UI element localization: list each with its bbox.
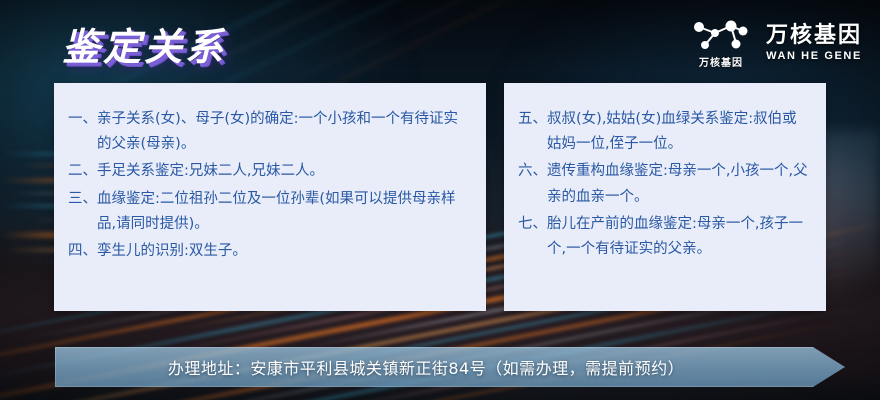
panel-right: 五、 叔叔(女),姑姑(女)血绿关系鉴定:叔伯或姑妈一位,侄子一位。 六、 遗传… (504, 83, 826, 311)
panel-left: 一、 亲子关系(女)、母子(女)的确定:一个小孩和一个有待证实的父亲(母亲)。 … (54, 83, 486, 311)
list-item-text: 血缘鉴定:二位祖孙二位及一位孙辈(如果可以提供母亲样品,请同时提供)。 (97, 187, 470, 237)
list-item-number: 二、 (66, 159, 97, 184)
list-item: 一、 亲子关系(女)、母子(女)的确定:一个小孩和一个有待证实的父亲(母亲)。 (66, 107, 470, 157)
list-item-text: 亲子关系(女)、母子(女)的确定:一个小孩和一个有待证实的父亲(母亲)。 (97, 107, 470, 157)
list-item: 五、 叔叔(女),姑姑(女)血绿关系鉴定:叔伯或姑妈一位,侄子一位。 (516, 107, 810, 157)
logo-mark: 万核基因 (690, 18, 752, 69)
list-item: 二、 手足关系鉴定:兄妹二人,兄妹二人。 (66, 159, 470, 184)
brand-logo: 万核基因 万核基因 WAN HE GENE (690, 18, 862, 69)
list-item-text: 胎儿在产前的血缘鉴定:母亲一个,孩子一个,一个有待证实的父亲。 (547, 212, 810, 262)
list-item-number: 五、 (516, 107, 547, 157)
list-item-text: 孪生儿的识别:双生子。 (97, 239, 470, 264)
logo-wordmark-cn: 万核基因 (766, 25, 862, 47)
list-item-number: 六、 (516, 159, 547, 209)
logo-mark-label: 万核基因 (699, 54, 743, 69)
list-item-text: 遗传重构血缘鉴定:母亲一个,小孩一个,父亲的血亲一个。 (547, 159, 810, 209)
banner-stage: 鉴定关系 (0, 0, 880, 400)
list-item-number: 三、 (66, 187, 97, 237)
list-item-text: 叔叔(女),姑姑(女)血绿关系鉴定:叔伯或姑妈一位,侄子一位。 (547, 107, 810, 157)
molecule-logo-icon (690, 18, 752, 52)
list-item: 七、 胎儿在产前的血缘鉴定:母亲一个,孩子一个,一个有待证实的父亲。 (516, 212, 810, 262)
address-bar-text: 办理地址：安康市平利县城关镇新正街84号（如需办理，需提前预约） (55, 347, 797, 387)
list-item: 六、 遗传重构血缘鉴定:母亲一个,小孩一个,父亲的血亲一个。 (516, 159, 810, 209)
address-bar: 办理地址：安康市平利县城关镇新正街84号（如需办理，需提前预约） (55, 347, 845, 387)
list-item: 三、 血缘鉴定:二位祖孙二位及一位孙辈(如果可以提供母亲样品,请同时提供)。 (66, 187, 470, 237)
list-item-text: 手足关系鉴定:兄妹二人,兄妹二人。 (97, 159, 470, 184)
logo-wordmark: 万核基因 WAN HE GENE (766, 25, 862, 62)
content-panels: 一、 亲子关系(女)、母子(女)的确定:一个小孩和一个有待证实的父亲(母亲)。 … (54, 83, 826, 311)
list-item-number: 一、 (66, 107, 97, 157)
logo-wordmark-en: WAN HE GENE (766, 51, 862, 62)
list-item: 四、 孪生儿的识别:双生子。 (66, 239, 470, 264)
list-item-number: 七、 (516, 212, 547, 262)
page-title: 鉴定关系 (62, 16, 226, 71)
list-item-number: 四、 (66, 239, 97, 264)
